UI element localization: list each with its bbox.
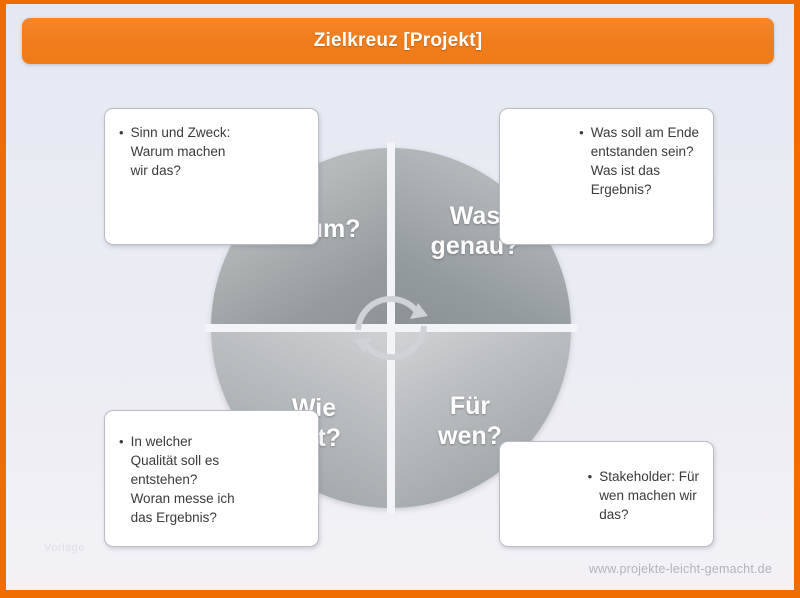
callout-fuer-wen-text: Stakeholder: Für wen machen wir das? (599, 467, 699, 524)
slide-title-bar: Zielkreuz [Projekt] (22, 18, 774, 64)
slide-frame: Zielkreuz [Projekt] Warum? Was genau? Wi… (0, 0, 800, 598)
bullet-icon: • (119, 432, 124, 451)
bullet-icon: • (119, 123, 124, 142)
bullet-icon: • (579, 123, 584, 142)
callout-fuer-wen[interactable]: • Stakeholder: Für wen machen wir das? (499, 441, 714, 547)
callout-warum-text: Sinn und Zweck: Warum machen wir das? (131, 123, 231, 180)
watermark-label: Vorlage (44, 542, 85, 554)
callout-wie-gut-text: In welcher Qualität soll es entstehen? W… (131, 432, 235, 527)
site-url-label: www.projekte-leicht-gemacht.de (589, 562, 772, 576)
page-title: Zielkreuz [Projekt] (314, 30, 483, 52)
slide-canvas: Zielkreuz [Projekt] Warum? Was genau? Wi… (6, 4, 794, 590)
callout-wie-gut[interactable]: • In welcher Qualität soll es entstehen?… (104, 410, 319, 547)
wheel-quadrant-fuer-wen-label: Für wen? (438, 391, 502, 451)
callout-warum[interactable]: • Sinn und Zweck: Warum machen wir das? (104, 108, 319, 245)
cycle-arrows-icon (348, 285, 434, 371)
callout-was-genau-text: Was soll am Ende entstanden sein? Was is… (591, 123, 699, 199)
bullet-icon: • (588, 467, 593, 486)
callout-was-genau[interactable]: • Was soll am Ende entstanden sein? Was … (499, 108, 714, 245)
